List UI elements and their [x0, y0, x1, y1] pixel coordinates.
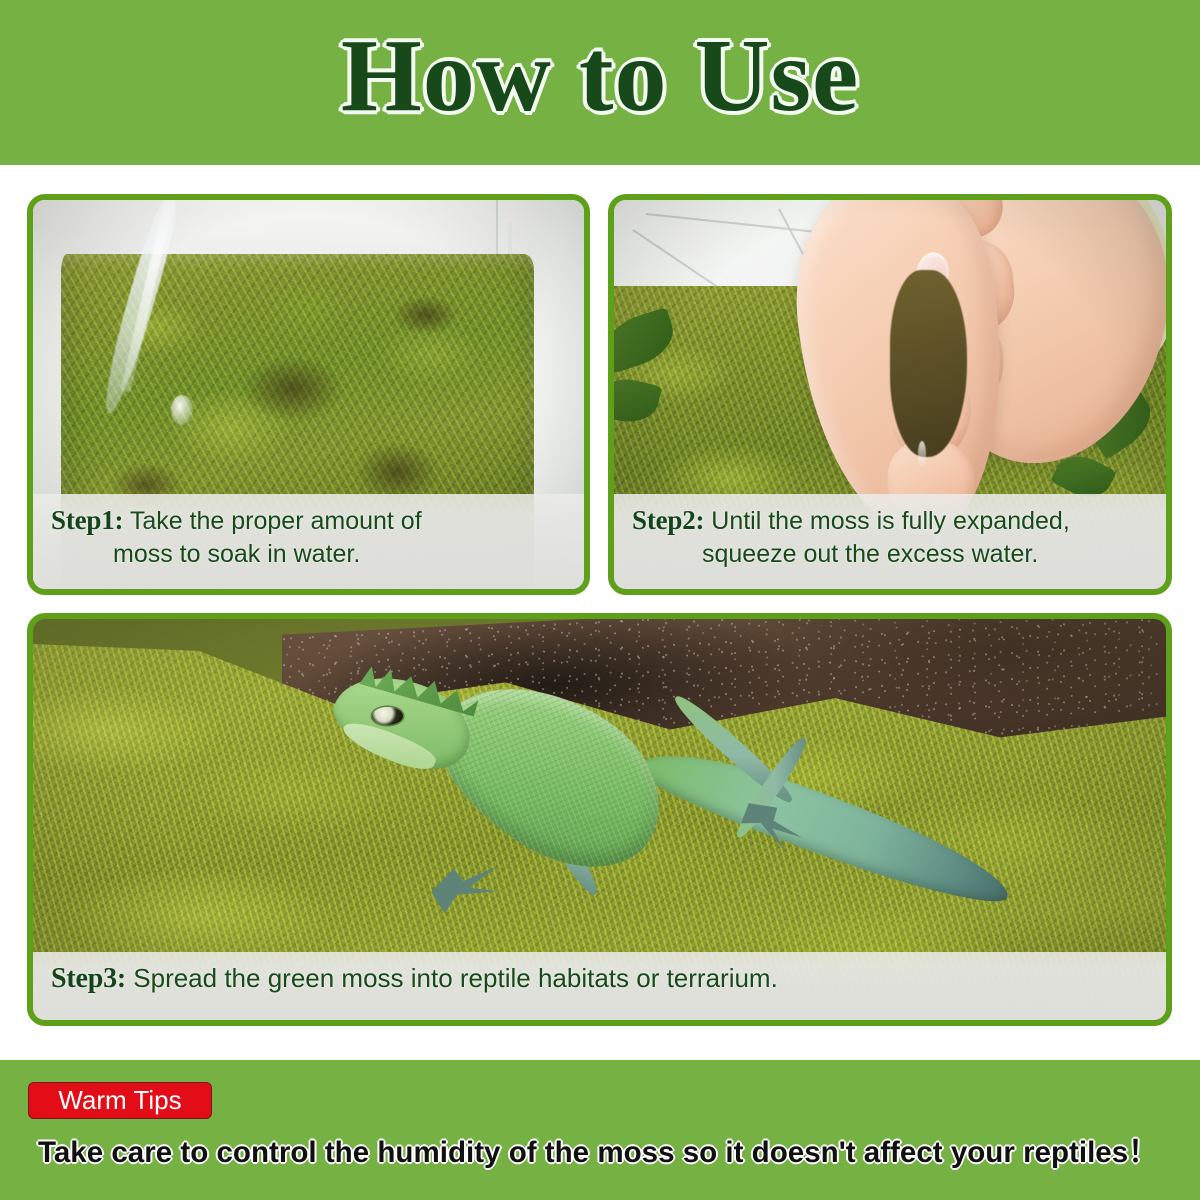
lizard-tail	[630, 731, 1019, 920]
lizard-eye	[372, 707, 403, 725]
warm-tips-label: Warm Tips	[58, 1087, 181, 1115]
step-1-label: Step1:	[51, 505, 123, 535]
step-3-caption: Step3: Spread the green moss into reptil…	[33, 952, 1166, 1020]
step-2-caption: Step2: Until the moss is fully expanded,…	[614, 494, 1166, 589]
step-2-card: Step2: Until the moss is fully expanded,…	[608, 194, 1172, 595]
step-1-text-line-1: Take the proper amount of	[130, 507, 422, 535]
header-banner: How to Use	[0, 0, 1200, 165]
step-2-text-line-1: Until the moss is fully expanded,	[711, 507, 1070, 535]
lizard-scale-texture	[410, 644, 692, 902]
warm-tips-badge: Warm Tips	[28, 1082, 212, 1119]
caption-line-1: Step1: Take the proper amount of	[51, 503, 570, 538]
how-to-use-infographic: How to Use Step1: Take the	[0, 0, 1200, 1200]
step-1-card: Step1: Take the proper amount of moss to…	[27, 194, 590, 595]
footer-banner	[0, 1060, 1200, 1200]
lizard-body	[410, 644, 692, 902]
moss-dark-patch	[354, 442, 439, 502]
moss-dark-patch	[392, 295, 458, 335]
lizard-foot	[427, 857, 506, 915]
step-3-label: Step3:	[51, 963, 126, 994]
squeezed-moss-wad	[890, 270, 967, 457]
moss-dark-patch	[241, 355, 345, 422]
lizard	[305, 675, 1007, 964]
water-drip	[918, 441, 926, 467]
step-2-label: Step2:	[632, 505, 704, 535]
step-2-text-line-2: squeeze out the excess water.	[632, 538, 1152, 570]
step-3-text-line-1: Spread the green moss into reptile habit…	[133, 963, 778, 993]
step-3-card: Step3: Spread the green moss into reptil…	[27, 613, 1172, 1026]
water-splash	[171, 395, 193, 425]
caption-line-1: Step2: Until the moss is fully expanded,	[632, 503, 1152, 538]
step-1-text-line-2: moss to soak in water.	[51, 538, 570, 570]
caption-line-1: Step3: Spread the green moss into reptil…	[51, 961, 1152, 997]
page-title: How to Use	[341, 24, 859, 142]
step-1-caption: Step1: Take the proper amount of moss to…	[33, 494, 584, 589]
warm-tips-text: Take care to control the humidity of the…	[38, 1136, 1151, 1171]
